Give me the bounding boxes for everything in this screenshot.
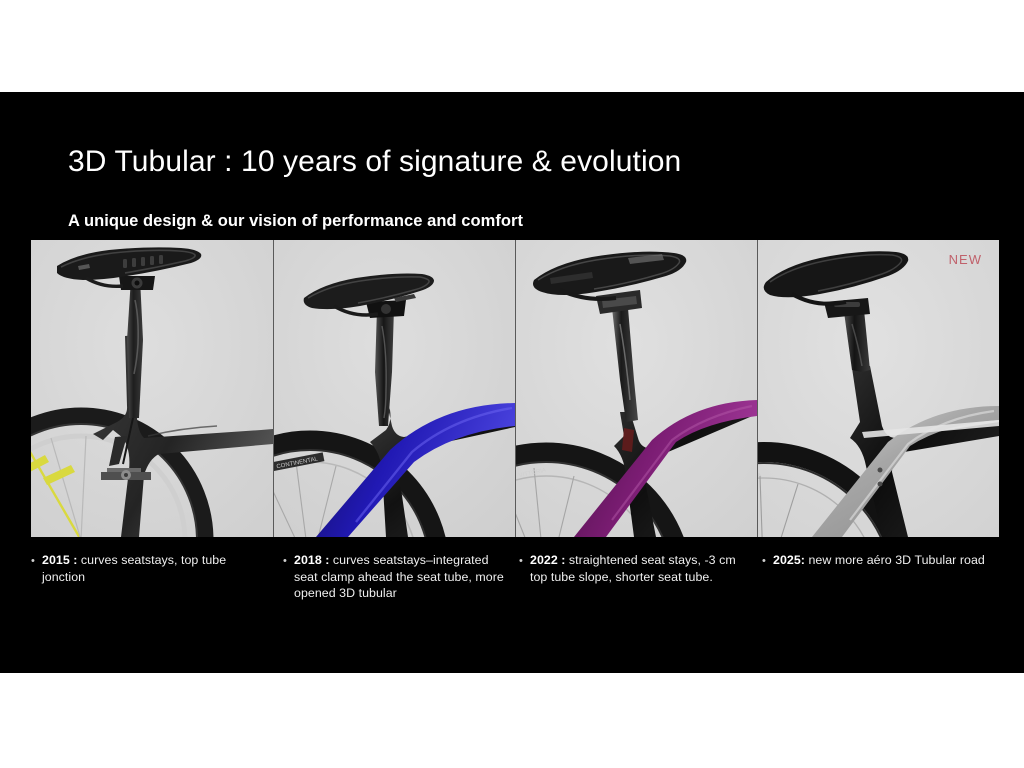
bike-illustration-2018: CONTINENTAL: [274, 240, 515, 537]
bullet-icon: •: [31, 552, 42, 570]
bike-illustration-2015: [31, 240, 273, 537]
bullet-icon: •: [762, 552, 773, 570]
photo-panel-2018[interactable]: CONTINENTAL: [274, 240, 516, 537]
caption-2015: • 2015 : curves seatstays, top tube jonc…: [31, 548, 283, 648]
bike-illustration-2025: VITTORIA: [758, 240, 999, 537]
caption-year-2022: 2022 :: [530, 553, 565, 567]
caption-body-2025: new more aéro 3D Tubular road: [805, 553, 985, 567]
caption-2025: • 2025: new more aéro 3D Tubular road: [762, 548, 996, 648]
photo-panel-2025[interactable]: VITTORIA: [758, 240, 999, 537]
slide-root: 3D Tubular : 10 years of signature & evo…: [0, 0, 1024, 768]
page-title: 3D Tubular : 10 years of signature & evo…: [68, 145, 681, 178]
caption-text-2015: 2015 : curves seatstays, top tube joncti…: [42, 552, 269, 585]
caption-2018: • 2018 : curves seatstays–integrated sea…: [283, 548, 519, 648]
caption-year-2015: 2015 :: [42, 553, 77, 567]
caption-text-2018: 2018 : curves seatstays–integrated seat …: [294, 552, 505, 602]
caption-2022: • 2022 : straightened seat stays, -3 cm …: [519, 548, 762, 648]
caption-year-2025: 2025:: [773, 553, 805, 567]
bullet-icon: •: [283, 552, 294, 570]
new-badge: NEW: [949, 252, 982, 267]
caption-row: • 2015 : curves seatstays, top tube jonc…: [31, 548, 996, 648]
photo-strip: CONTINENTAL: [31, 240, 996, 537]
caption-text-2025: 2025: new more aéro 3D Tubular road: [773, 552, 985, 569]
slide-canvas: 3D Tubular : 10 years of signature & evo…: [0, 92, 1024, 673]
photo-panel-2022[interactable]: VITTORIA: [516, 240, 758, 537]
bullet-icon: •: [519, 552, 530, 570]
caption-text-2022: 2022 : straightened seat stays, -3 cm to…: [530, 552, 748, 585]
page-subtitle: A unique design & our vision of performa…: [68, 212, 523, 230]
photo-panel-2015[interactable]: [31, 240, 274, 537]
bike-illustration-2022: VITTORIA: [516, 240, 757, 537]
caption-year-2018: 2018 :: [294, 553, 329, 567]
